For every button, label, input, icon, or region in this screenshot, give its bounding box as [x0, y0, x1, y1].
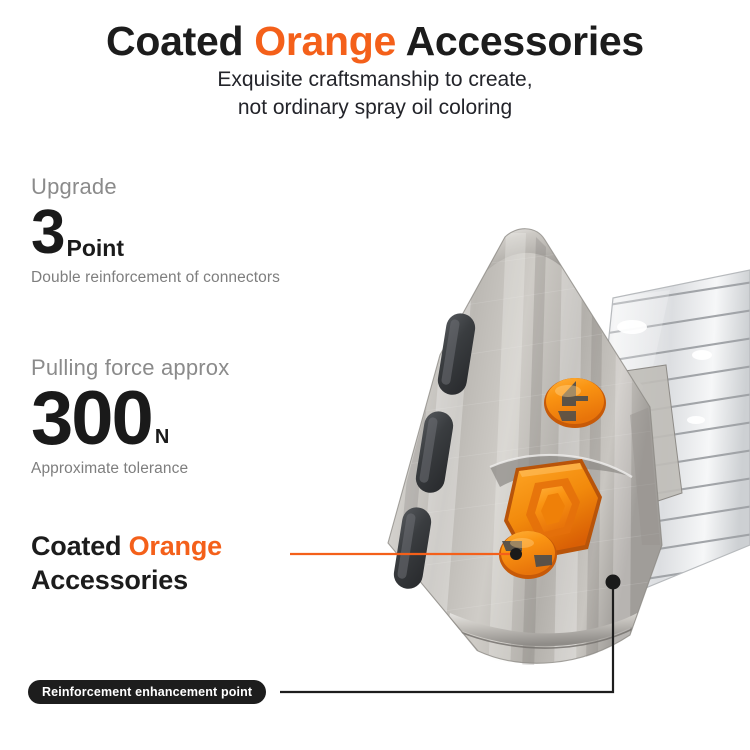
feature-kicker: Upgrade: [31, 176, 280, 198]
callout-coated-orange: Coated Orange Accessories: [31, 530, 222, 598]
product-infographic: Coated Orange Accessories Exquisite craf…: [0, 0, 750, 750]
feature-unit: Point: [63, 238, 124, 263]
feature-value-row: 3 Point: [31, 204, 280, 263]
page-title-part2: Accessories: [396, 18, 644, 64]
feature-unit: N: [152, 428, 169, 455]
feature-description: Double reinforcement of connectors: [31, 269, 280, 287]
orange-connector-upper: [544, 378, 606, 428]
badge-label: Reinforcement enhancement point: [42, 685, 252, 699]
page-title-accent: Orange: [254, 18, 396, 64]
page-title-part1: Coated: [106, 18, 254, 64]
callout-coated-accent: Orange: [129, 531, 222, 561]
page-subtitle-line1: Exquisite craftsmanship to create,: [0, 66, 750, 94]
badge-reinforcement-enhancement-point: Reinforcement enhancement point: [28, 680, 266, 704]
page-subtitle-line2: not ordinary spray oil coloring: [0, 94, 750, 122]
callout-coated-part1: Coated: [31, 531, 129, 561]
feature-value: 3: [31, 204, 63, 263]
feature-block-pulling-force: Pulling force approx 300 N Approximate t…: [31, 357, 229, 478]
page-title: Coated Orange Accessories: [0, 18, 750, 65]
page-subtitle: Exquisite craftsmanship to create, not o…: [0, 66, 750, 121]
feature-description: Approximate tolerance: [31, 460, 229, 478]
callout-coated-line2: Accessories: [31, 564, 222, 598]
feature-value-row: 300 N: [31, 383, 229, 455]
feature-block-upgrade: Upgrade 3 Point Double reinforcement of …: [31, 176, 280, 287]
feature-value: 300: [31, 383, 152, 455]
callout-coated-line1: Coated Orange: [31, 530, 222, 564]
product-image-watch-clasp: [330, 215, 750, 685]
orange-connector-lower: [499, 531, 557, 579]
